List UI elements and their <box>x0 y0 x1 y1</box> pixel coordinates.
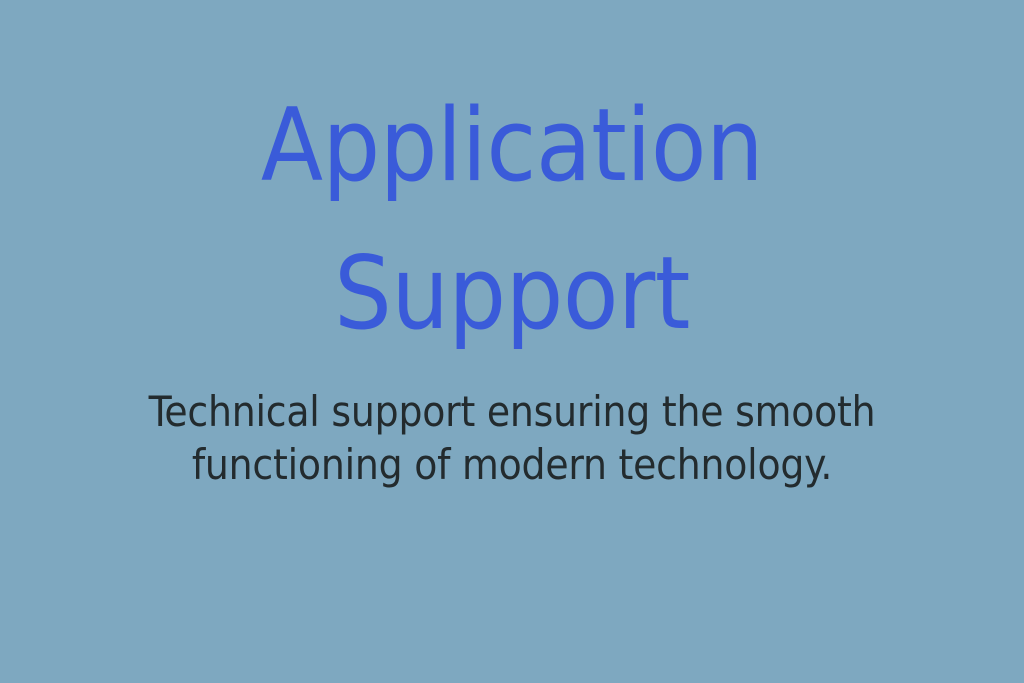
slide-canvas: Application Support Technical support en… <box>0 0 1024 683</box>
slide-subtitle: Technical support ensuring the smooth fu… <box>42 385 982 492</box>
page-title: Application Support <box>192 71 832 368</box>
empty-background-region <box>0 500 1024 683</box>
